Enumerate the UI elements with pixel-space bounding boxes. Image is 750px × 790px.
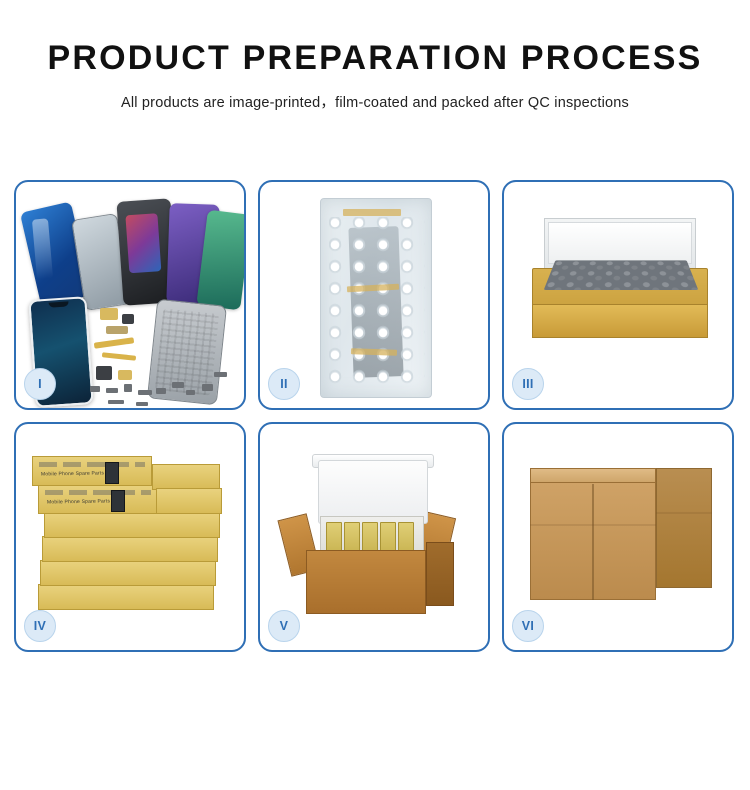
box-print-lines <box>39 462 145 467</box>
component-chip <box>96 366 112 380</box>
stacked-box <box>152 464 220 490</box>
carton-seam <box>530 524 656 526</box>
step-badge-6: VI <box>512 610 544 642</box>
step-card-1: I <box>14 180 246 410</box>
carton-seam <box>656 512 712 514</box>
stacked-box <box>156 488 222 514</box>
carton-side-panel <box>656 468 712 588</box>
top-box-lower: Mobile Phone Spare Parts <box>38 484 158 514</box>
poster-page: PRODUCT PREPARATION PROCESS All products… <box>0 40 750 790</box>
carton-front <box>306 550 426 614</box>
step-badge-1: I <box>24 368 56 400</box>
carton-seam <box>592 484 594 600</box>
small-part <box>138 390 152 395</box>
small-part <box>136 402 148 406</box>
carton-side <box>426 542 454 606</box>
box-print-lines <box>45 490 151 495</box>
box-print-text: Mobile Phone Spare Parts <box>41 470 104 477</box>
stacked-box <box>42 536 218 562</box>
stacked-box <box>38 584 214 610</box>
small-part <box>172 382 184 388</box>
step-badge-5: V <box>268 610 300 642</box>
small-part <box>124 384 132 392</box>
step-card-6: VI <box>502 422 734 652</box>
small-part <box>156 388 166 394</box>
component-chip <box>118 370 132 380</box>
process-step-grid: I II III <box>14 180 736 652</box>
stacked-box <box>44 512 220 538</box>
small-part <box>106 388 118 393</box>
box-front-panel <box>532 304 708 338</box>
small-part <box>108 400 124 404</box>
page-title: PRODUCT PREPARATION PROCESS <box>0 40 750 77</box>
stacked-box <box>40 560 216 586</box>
component-chip <box>100 308 118 320</box>
small-part <box>90 386 100 392</box>
step-card-5: V <box>258 422 490 652</box>
component-chip <box>122 314 134 324</box>
foam-padding <box>544 260 699 290</box>
foam-cooler-box <box>318 460 428 524</box>
flex-cable <box>94 337 134 349</box>
step-card-4: Mobile Phone Spare Parts Mobile Phone Sp… <box>14 422 246 652</box>
step-badge-2: II <box>268 368 300 400</box>
page-subtitle: All products are image-printed，film-coat… <box>0 91 750 112</box>
box-print-chip <box>105 462 119 484</box>
step-card-3: III <box>502 180 734 410</box>
poly-bag <box>320 198 432 398</box>
small-part <box>202 384 213 391</box>
small-part <box>186 390 195 395</box>
flex-cable <box>102 352 136 361</box>
small-part <box>214 372 227 377</box>
box-print-chip <box>111 490 125 512</box>
tape-strip <box>343 209 401 216</box>
step-card-2: II <box>258 180 490 410</box>
step-badge-4: IV <box>24 610 56 642</box>
box-inner-white-liner <box>548 222 692 264</box>
step-badge-3: III <box>512 368 544 400</box>
top-box-upper: Mobile Phone Spare Parts <box>32 456 152 486</box>
component-chip <box>106 326 128 334</box>
box-print-text: Mobile Phone Spare Parts <box>47 498 110 505</box>
bubble-wrap <box>329 217 425 389</box>
